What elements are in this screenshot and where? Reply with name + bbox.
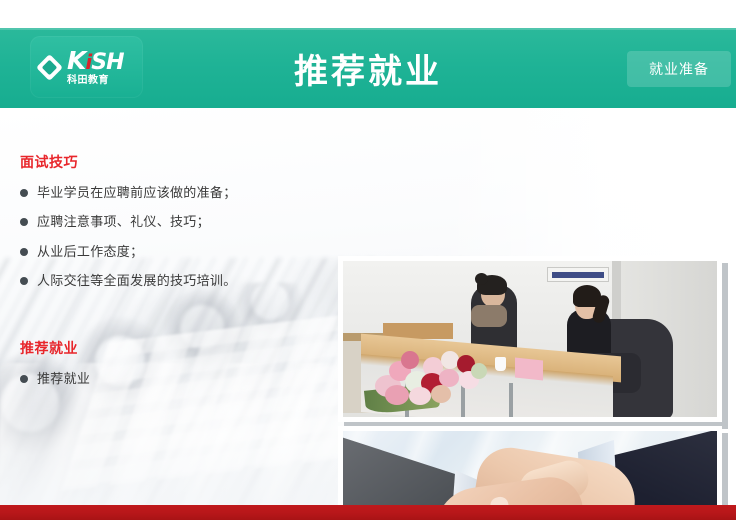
bullet-dot-icon — [20, 277, 28, 285]
bullet-list: 毕业学员在应聘前应该做的准备； 应聘注意事项、礼仪、技巧； 从业后工作态度； 人… — [20, 185, 320, 289]
section-title: 推荐就业 — [20, 338, 320, 358]
list-item: 从业后工作态度； — [20, 244, 320, 260]
list-item: 推荐就业 — [20, 371, 320, 387]
list-item: 人际交往等全面发展的技巧培训。 — [20, 273, 320, 289]
job-preparation-button[interactable]: 就业准备 — [627, 51, 731, 87]
flower-arrangement — [371, 341, 497, 407]
list-item: 应聘注意事项、礼仪、技巧； — [20, 214, 320, 230]
bullet-dot-icon — [20, 248, 28, 256]
list-item-label: 人际交往等全面发展的技巧培训。 — [37, 273, 237, 289]
list-item-label: 推荐就业 — [37, 371, 90, 387]
bullet-dot-icon — [20, 375, 28, 383]
page-title: 推荐就业 — [0, 28, 736, 108]
page-header: KiSH 科田教育 推荐就业 就业准备 — [0, 28, 736, 108]
section-interview-skills: 面试技巧 毕业学员在应聘前应该做的准备； 应聘注意事项、礼仪、技巧； 从业后工作… — [20, 152, 320, 302]
list-item-label: 从业后工作态度； — [37, 244, 143, 260]
slide-page: KiSH 科田教育 推荐就业 就业准备 面试技巧 毕业学员在应聘前应该做的准备；… — [0, 0, 736, 520]
interview-photo[interactable] — [338, 256, 722, 422]
section-title: 面试技巧 — [20, 152, 320, 172]
wall-frame-icon — [547, 267, 609, 282]
list-item-label: 毕业学员在应聘前应该做的准备； — [37, 185, 237, 201]
bullet-list: 推荐就业 — [20, 371, 320, 387]
list-item: 毕业学员在应聘前应该做的准备； — [20, 185, 320, 201]
list-item-label: 应聘注意事项、礼仪、技巧； — [37, 214, 210, 230]
footer-bar — [0, 505, 736, 520]
content-area: 面试技巧 毕业学员在应聘前应该做的准备； 应聘注意事项、礼仪、技巧； 从业后工作… — [0, 108, 736, 520]
section-job-recommendation: 推荐就业 推荐就业 — [20, 338, 320, 400]
photo-matte — [338, 256, 722, 422]
photo-image — [343, 261, 717, 417]
bullet-dot-icon — [20, 189, 28, 197]
bullet-dot-icon — [20, 218, 28, 226]
